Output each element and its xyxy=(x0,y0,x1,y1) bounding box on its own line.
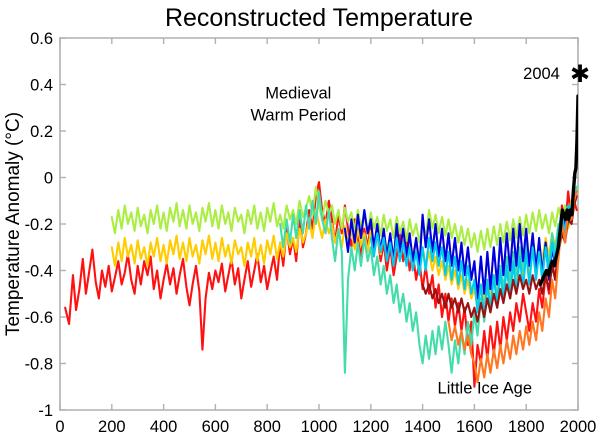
x-tick-label: 1200 xyxy=(352,418,389,436)
reconstructed-temperature-figure: Reconstructed TemperatureTemperature Ano… xyxy=(0,0,600,443)
x-tick-label: 600 xyxy=(202,418,230,436)
y-tick-label: -0.6 xyxy=(25,309,53,327)
x-tick-label: 1600 xyxy=(456,418,493,436)
y-tick-label: -1 xyxy=(38,402,53,420)
series-group xyxy=(65,96,578,387)
x-tick-label: 400 xyxy=(150,418,178,436)
y-tick-label: 0 xyxy=(44,170,53,188)
x-tick-label: 800 xyxy=(253,418,281,436)
x-tick-label: 200 xyxy=(98,418,126,436)
temperature-chart: Reconstructed TemperatureTemperature Ano… xyxy=(0,0,600,443)
y-tick-label: 0.6 xyxy=(30,30,53,48)
annotation-2004-label: 2004 xyxy=(523,65,560,83)
y-tick-label: 0.4 xyxy=(30,77,53,95)
x-tick-label: 0 xyxy=(55,418,64,436)
x-tick-label: 1400 xyxy=(404,418,441,436)
chart-title: Reconstructed Temperature xyxy=(165,4,473,32)
x-tick-label: 1800 xyxy=(508,418,545,436)
x-tick-label: 2000 xyxy=(560,418,597,436)
marker-asterisk-2004: ✱ xyxy=(570,61,590,88)
x-tick-label: 1000 xyxy=(301,418,338,436)
y-tick-label: -0.8 xyxy=(25,356,53,374)
annotation-medieval-warm-period-line2: Warm Period xyxy=(250,106,346,124)
annotation-medieval-warm-period-line1: Medieval xyxy=(265,84,331,102)
y-tick-label: -0.4 xyxy=(25,263,53,281)
y-axis-label: Temperature Anomaly (°C) xyxy=(3,112,24,336)
y-tick-label: 0.2 xyxy=(30,123,53,141)
annotation-little-ice-age: Little Ice Age xyxy=(438,380,532,398)
y-tick-label: -0.2 xyxy=(25,216,53,234)
